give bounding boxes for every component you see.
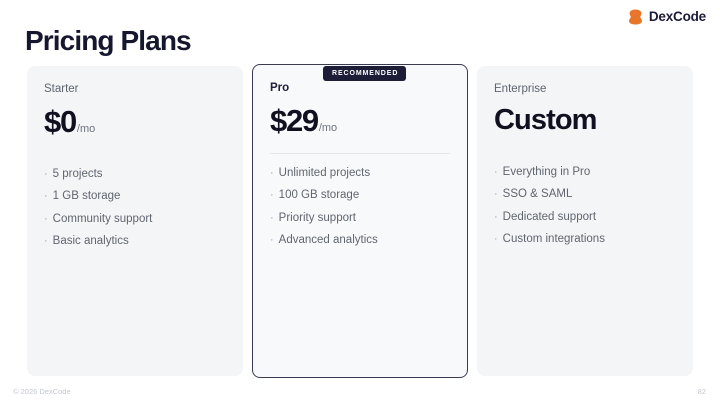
list-item: ·Priority support	[270, 213, 450, 225]
feature-label: Community support	[53, 214, 153, 226]
feature-label: 5 projects	[53, 169, 103, 181]
bullet-icon: ·	[44, 214, 48, 226]
bullet-icon: ·	[494, 234, 498, 246]
price-period: /mo	[77, 124, 95, 135]
feature-label: SSO & SAML	[503, 189, 573, 201]
feature-list: ·Unlimited projects ·100 GB storage ·Pri…	[270, 168, 450, 247]
recommended-badge: RECOMMENDED	[323, 66, 406, 81]
list-item: ·SSO & SAML	[494, 189, 676, 201]
feature-label: 1 GB storage	[53, 191, 121, 203]
feature-label: Dedicated support	[503, 212, 596, 224]
list-item: ·1 GB storage	[44, 191, 226, 203]
card-divider	[44, 154, 226, 155]
feature-list: ·Everything in Pro ·SSO & SAML ·Dedicate…	[494, 167, 676, 246]
plan-price: $0 /mo	[44, 106, 226, 137]
plan-name: Starter	[44, 84, 226, 96]
plan-price: $29 /mo	[270, 105, 450, 136]
price-amount: $29	[270, 105, 318, 136]
list-item: ·Everything in Pro	[494, 167, 676, 179]
bullet-icon: ·	[270, 235, 274, 247]
list-item: ·Dedicated support	[494, 212, 676, 224]
bullet-icon: ·	[494, 167, 498, 179]
bullet-icon: ·	[270, 213, 274, 225]
footer-page-number: 82	[698, 388, 706, 396]
bullet-icon: ·	[494, 212, 498, 224]
plan-name: Pro	[270, 83, 450, 95]
pricing-card-starter[interactable]: Starter $0 /mo ·5 projects ·1 GB storage…	[27, 66, 243, 376]
feature-label: Unlimited projects	[279, 168, 370, 180]
price-amount: Custom	[494, 106, 597, 135]
plan-price: Custom	[494, 106, 676, 135]
price-period: /mo	[319, 123, 337, 134]
bullet-icon: ·	[44, 191, 48, 203]
list-item: ·5 projects	[44, 169, 226, 181]
card-divider	[270, 153, 450, 154]
list-item: ·Unlimited projects	[270, 168, 450, 180]
pricing-card-pro[interactable]: Pro $29 /mo ·Unlimited projects ·100 GB …	[252, 64, 468, 378]
feature-label: Basic analytics	[53, 236, 129, 248]
feature-label: Priority support	[279, 213, 356, 225]
pricing-cards: Starter $0 /mo ·5 projects ·1 GB storage…	[0, 0, 720, 405]
bullet-icon: ·	[270, 190, 274, 202]
footer-copyright: © 2026 DexCode	[13, 388, 71, 396]
pricing-card-enterprise[interactable]: Enterprise Custom ·Everything in Pro ·SS…	[477, 66, 693, 376]
bullet-icon: ·	[494, 189, 498, 201]
bullet-icon: ·	[44, 236, 48, 248]
feature-label: Advanced analytics	[279, 235, 378, 247]
price-amount: $0	[44, 106, 76, 137]
list-item: ·Custom integrations	[494, 234, 676, 246]
card-divider	[494, 152, 676, 153]
feature-list: ·5 projects ·1 GB storage ·Community sup…	[44, 169, 226, 248]
feature-label: Custom integrations	[503, 234, 605, 246]
bullet-icon: ·	[44, 169, 48, 181]
bullet-icon: ·	[270, 168, 274, 180]
feature-label: Everything in Pro	[503, 167, 591, 179]
list-item: ·100 GB storage	[270, 190, 450, 202]
plan-name: Enterprise	[494, 84, 676, 96]
feature-label: 100 GB storage	[279, 190, 360, 202]
list-item: ·Community support	[44, 214, 226, 226]
list-item: ·Basic analytics	[44, 236, 226, 248]
list-item: ·Advanced analytics	[270, 235, 450, 247]
